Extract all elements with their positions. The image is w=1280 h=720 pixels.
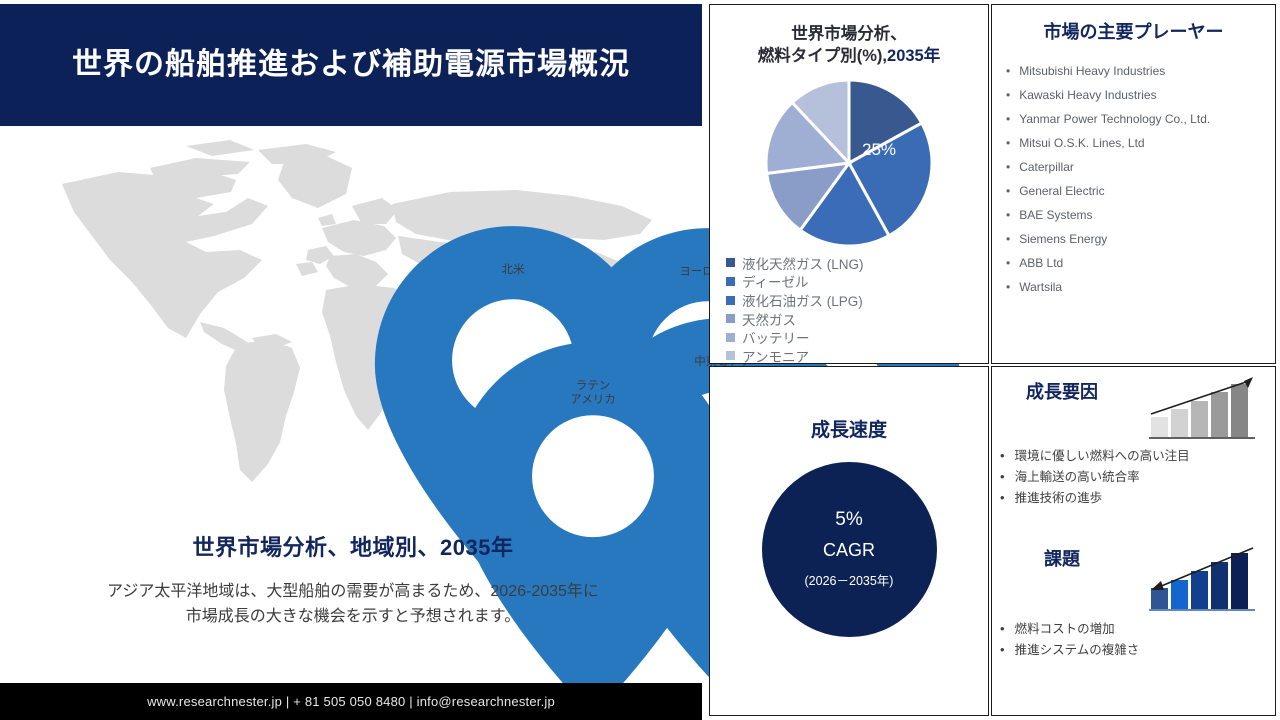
left-panel: 世界の船舶推進および補助電源市場概況 <box>0 0 706 720</box>
challenge-item-label: 燃料コストの増加 <box>1015 618 1115 637</box>
fuel-type-pie-panel: 世界市場分析、 燃料タイプ別(%),2035年 25% 液化天然ガス (LNG)… <box>709 4 989 364</box>
panel-spacer <box>992 508 1275 522</box>
key-player-item: •Wartsila <box>1006 280 1275 304</box>
pie-legend-item: 液化石油ガス (LPG) <box>726 291 988 310</box>
challenge-item: •燃料コストの増加 <box>1000 618 1275 639</box>
ascending-bar-chart-icon <box>1145 373 1261 448</box>
pie-title-line2a: 燃料タイプ別(%), <box>758 47 887 65</box>
bullet-icon: • <box>1006 113 1010 125</box>
key-player-item-label: Siemens Energy <box>1019 232 1107 246</box>
page-title-bar: 世界の船舶推進および補助電源市場概況 <box>0 4 702 126</box>
key-player-item: •BAE Systems <box>1006 208 1275 232</box>
bullet-icon: • <box>1006 65 1010 77</box>
challenge-item: •推進システムの複雑さ <box>1000 639 1275 660</box>
growth-factor-item: •環境に優しい燃料への高い注目 <box>1000 445 1275 466</box>
infographic-page: 世界の船舶推進および補助電源市場概況 <box>0 0 1280 720</box>
cagr-badge: 5% CAGR (2026－2035年) <box>762 462 937 637</box>
key-player-item-label: General Electric <box>1019 184 1104 198</box>
pie-chart: 25% <box>764 78 934 248</box>
pie-legend-item: 液化天然ガス (LNG) <box>726 254 988 273</box>
pie-legend: 液化天然ガス (LNG)ディーゼル液化石油ガス (LPG)天然ガスバッテリーアン… <box>726 254 988 366</box>
key-player-item: •Kawaski Heavy Industries <box>1006 88 1275 112</box>
pie-title-line1: 世界市場分析、 <box>791 25 907 43</box>
challenges-title: 課題 <box>1006 548 1118 571</box>
challenges-list: •燃料コストの増加•推進システムの複雑さ <box>1000 618 1275 660</box>
growth-factor-item: •推進技術の進歩 <box>1000 487 1275 508</box>
pie-chart-svg <box>764 78 934 248</box>
bullet-icon: • <box>1000 449 1005 462</box>
cagr-metric: CAGR <box>823 540 875 561</box>
bullet-icon: • <box>1000 622 1005 635</box>
growth-factors-list: •環境に優しい燃料への高い注目•海上輸送の高い統合率•推進技術の進歩 <box>1000 445 1275 508</box>
bullet-icon: • <box>1000 643 1005 656</box>
key-players-panel: 市場の主要プレーヤー •Mitsubishi Heavy Industries•… <box>991 4 1276 364</box>
bullet-icon: • <box>1006 185 1010 197</box>
key-player-item-label: Mitsui O.S.K. Lines, Ltd <box>1019 136 1144 150</box>
key-player-item-label: Mitsubishi Heavy Industries <box>1019 64 1165 78</box>
pie-legend-label: 液化石油ガス (LPG) <box>742 290 863 310</box>
world-map: 北米 ヨーロッパ アジア太平 洋地域 <box>0 132 706 522</box>
pie-legend-item: バッテリー <box>726 328 988 347</box>
pie-legend-item: アンモニア <box>726 347 988 366</box>
map-pin-label: ラテン アメリカ <box>570 380 615 408</box>
bullet-icon: • <box>1000 470 1005 483</box>
key-player-item: •General Electric <box>1006 184 1275 208</box>
key-player-item-label: BAE Systems <box>1019 208 1092 222</box>
bullet-icon: • <box>1006 257 1010 269</box>
footer-contact-text: www.researchnester.jp | + 81 505 050 848… <box>147 694 555 709</box>
key-player-item: •Yanmar Power Technology Co., Ltd. <box>1006 112 1275 136</box>
pie-slice-data-label: 25% <box>862 140 896 160</box>
bullet-icon: • <box>1006 209 1010 221</box>
growth-factor-item: •海上輸送の高い統合率 <box>1000 466 1275 487</box>
key-player-item-label: Yanmar Power Technology Co., Ltd. <box>1019 112 1210 126</box>
bullet-icon: • <box>1006 281 1010 293</box>
growth-and-challenges-panel: 成長要因 •環境に優しい燃料への高い注目•海上輸送の高い統合率•推進技術の進歩 … <box>991 366 1276 716</box>
pie-legend-label: 液化天然ガス (LNG) <box>742 253 864 273</box>
challenges-header: 課題 <box>992 522 1275 618</box>
pie-title-year: 2035年 <box>887 47 940 65</box>
key-player-item: •ABB Ltd <box>1006 256 1275 280</box>
legend-swatch-icon <box>726 333 735 342</box>
legend-swatch-icon <box>726 351 735 360</box>
map-subtext: アジア太平洋地域は、大型船舶の需要が高まるため、2026-2035年に市場成長の… <box>100 580 606 630</box>
bullet-icon: • <box>1006 161 1010 173</box>
footer-bar: www.researchnester.jp | + 81 505 050 848… <box>0 683 702 720</box>
pie-legend-label: 天然ガス <box>742 309 796 329</box>
key-player-item-label: Kawaski Heavy Industries <box>1019 88 1156 102</box>
growth-factor-item-label: 推進技術の進歩 <box>1015 487 1103 506</box>
key-players-list: •Mitsubishi Heavy Industries•Kawaski Hea… <box>1006 64 1275 304</box>
map-heading: 世界市場分析、地域別、2035年 <box>0 530 706 562</box>
key-player-item-label: Caterpillar <box>1019 160 1074 174</box>
growth-rate-panel: 成長速度 5% CAGR (2026－2035年) <box>709 366 989 716</box>
cagr-period: (2026－2035年) <box>805 570 894 589</box>
bullet-icon: • <box>1006 137 1010 149</box>
pie-legend-label: アンモニア <box>742 346 809 366</box>
descending-arrow-bar-chart-icon <box>1145 542 1261 619</box>
key-player-item: •Caterpillar <box>1006 160 1275 184</box>
pie-legend-item: ディーゼル <box>726 272 988 291</box>
legend-swatch-icon <box>726 277 735 286</box>
pie-legend-label: バッテリー <box>742 327 810 347</box>
key-players-title: 市場の主要プレーヤー <box>992 21 1275 44</box>
pie-legend-item: 天然ガス <box>726 309 988 328</box>
legend-swatch-icon <box>726 314 735 323</box>
page-title: 世界の船舶推進および補助電源市場概況 <box>72 46 630 84</box>
growth-rate-title: 成長速度 <box>710 419 988 444</box>
cagr-percent: 5% <box>835 509 862 531</box>
growth-factors-title: 成長要因 <box>1006 381 1118 404</box>
growth-factors-header: 成長要因 <box>992 367 1275 445</box>
bullet-icon: • <box>1006 233 1010 245</box>
legend-swatch-icon <box>726 258 735 267</box>
key-player-item: •Mitsubishi Heavy Industries <box>1006 64 1275 88</box>
key-player-item-label: ABB Ltd <box>1019 256 1063 270</box>
challenge-item-label: 推進システムの複雑さ <box>1015 639 1140 658</box>
pie-chart-title: 世界市場分析、 燃料タイプ別(%),2035年 <box>710 23 988 68</box>
key-player-item: •Mitsui O.S.K. Lines, Ltd <box>1006 136 1275 160</box>
legend-swatch-icon <box>726 296 735 305</box>
bullet-icon: • <box>1000 491 1005 504</box>
growth-factor-item-label: 海上輸送の高い統合率 <box>1015 466 1140 485</box>
key-player-item-label: Wartsila <box>1019 280 1062 294</box>
pie-legend-label: ディーゼル <box>742 271 809 291</box>
key-player-item: •Siemens Energy <box>1006 232 1275 256</box>
bullet-icon: • <box>1006 89 1010 101</box>
